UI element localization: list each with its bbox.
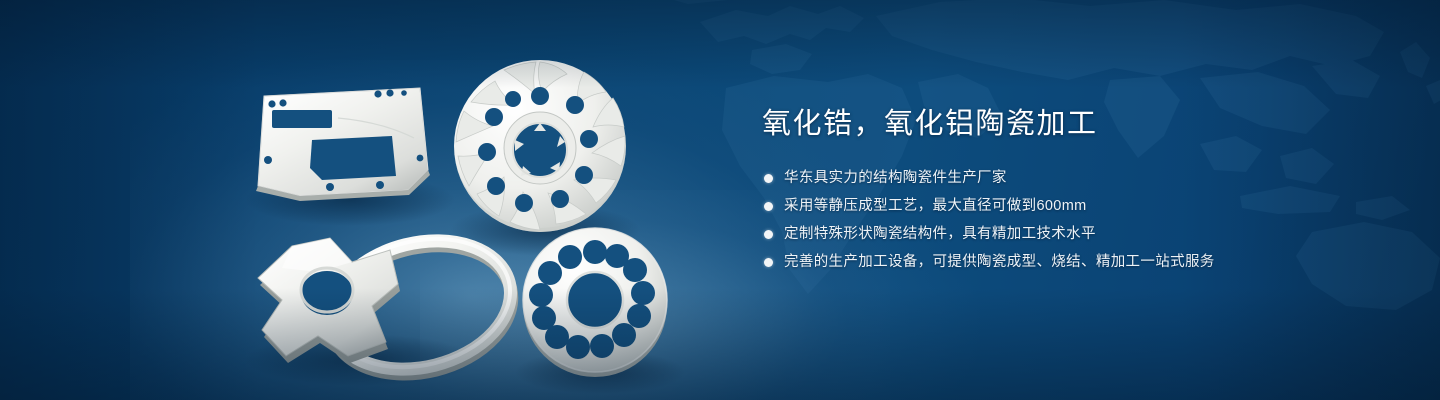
ceramic-impeller [454,60,626,232]
promo-banner: 氧化锆，氧化铝陶瓷加工 华东具实力的结构陶瓷件生产厂家 采用等静压成型工艺，最大… [0,0,1440,400]
ceramic-cross-part [258,238,400,363]
bullet-dot-icon [764,202,773,211]
list-item-label: 华东具实力的结构陶瓷件生产厂家 [784,166,1007,191]
bullet-dot-icon [764,230,773,239]
ceramic-machined-plate [256,88,430,201]
list-item: 完善的生产加工设备，可提供陶瓷成型、烧结、精加工一站式服务 [764,250,1382,275]
list-item-label: 定制特殊形状陶瓷结构件，具有精加工技术水平 [784,222,1096,247]
page-title: 氧化锆，氧化铝陶瓷加工 [762,104,1382,144]
list-item: 定制特殊形状陶瓷结构件，具有精加工技术水平 [764,222,1382,247]
ceramic-products-image [0,0,760,400]
bullet-dot-icon [764,258,773,267]
list-item-label: 完善的生产加工设备，可提供陶瓷成型、烧结、精加工一站式服务 [784,250,1215,275]
ceramic-perforated-disc [523,228,667,377]
list-item: 华东具实力的结构陶瓷件生产厂家 [764,166,1382,191]
bullet-dot-icon [764,174,773,183]
banner-copy: 氧化锆，氧化铝陶瓷加工 华东具实力的结构陶瓷件生产厂家 采用等静压成型工艺，最大… [762,104,1382,291]
list-item-label: 采用等静压成型工艺，最大直径可做到600mm [784,194,1087,219]
feature-list: 华东具实力的结构陶瓷件生产厂家 采用等静压成型工艺，最大直径可做到600mm 定… [764,166,1382,275]
list-item: 采用等静压成型工艺，最大直径可做到600mm [764,194,1382,219]
